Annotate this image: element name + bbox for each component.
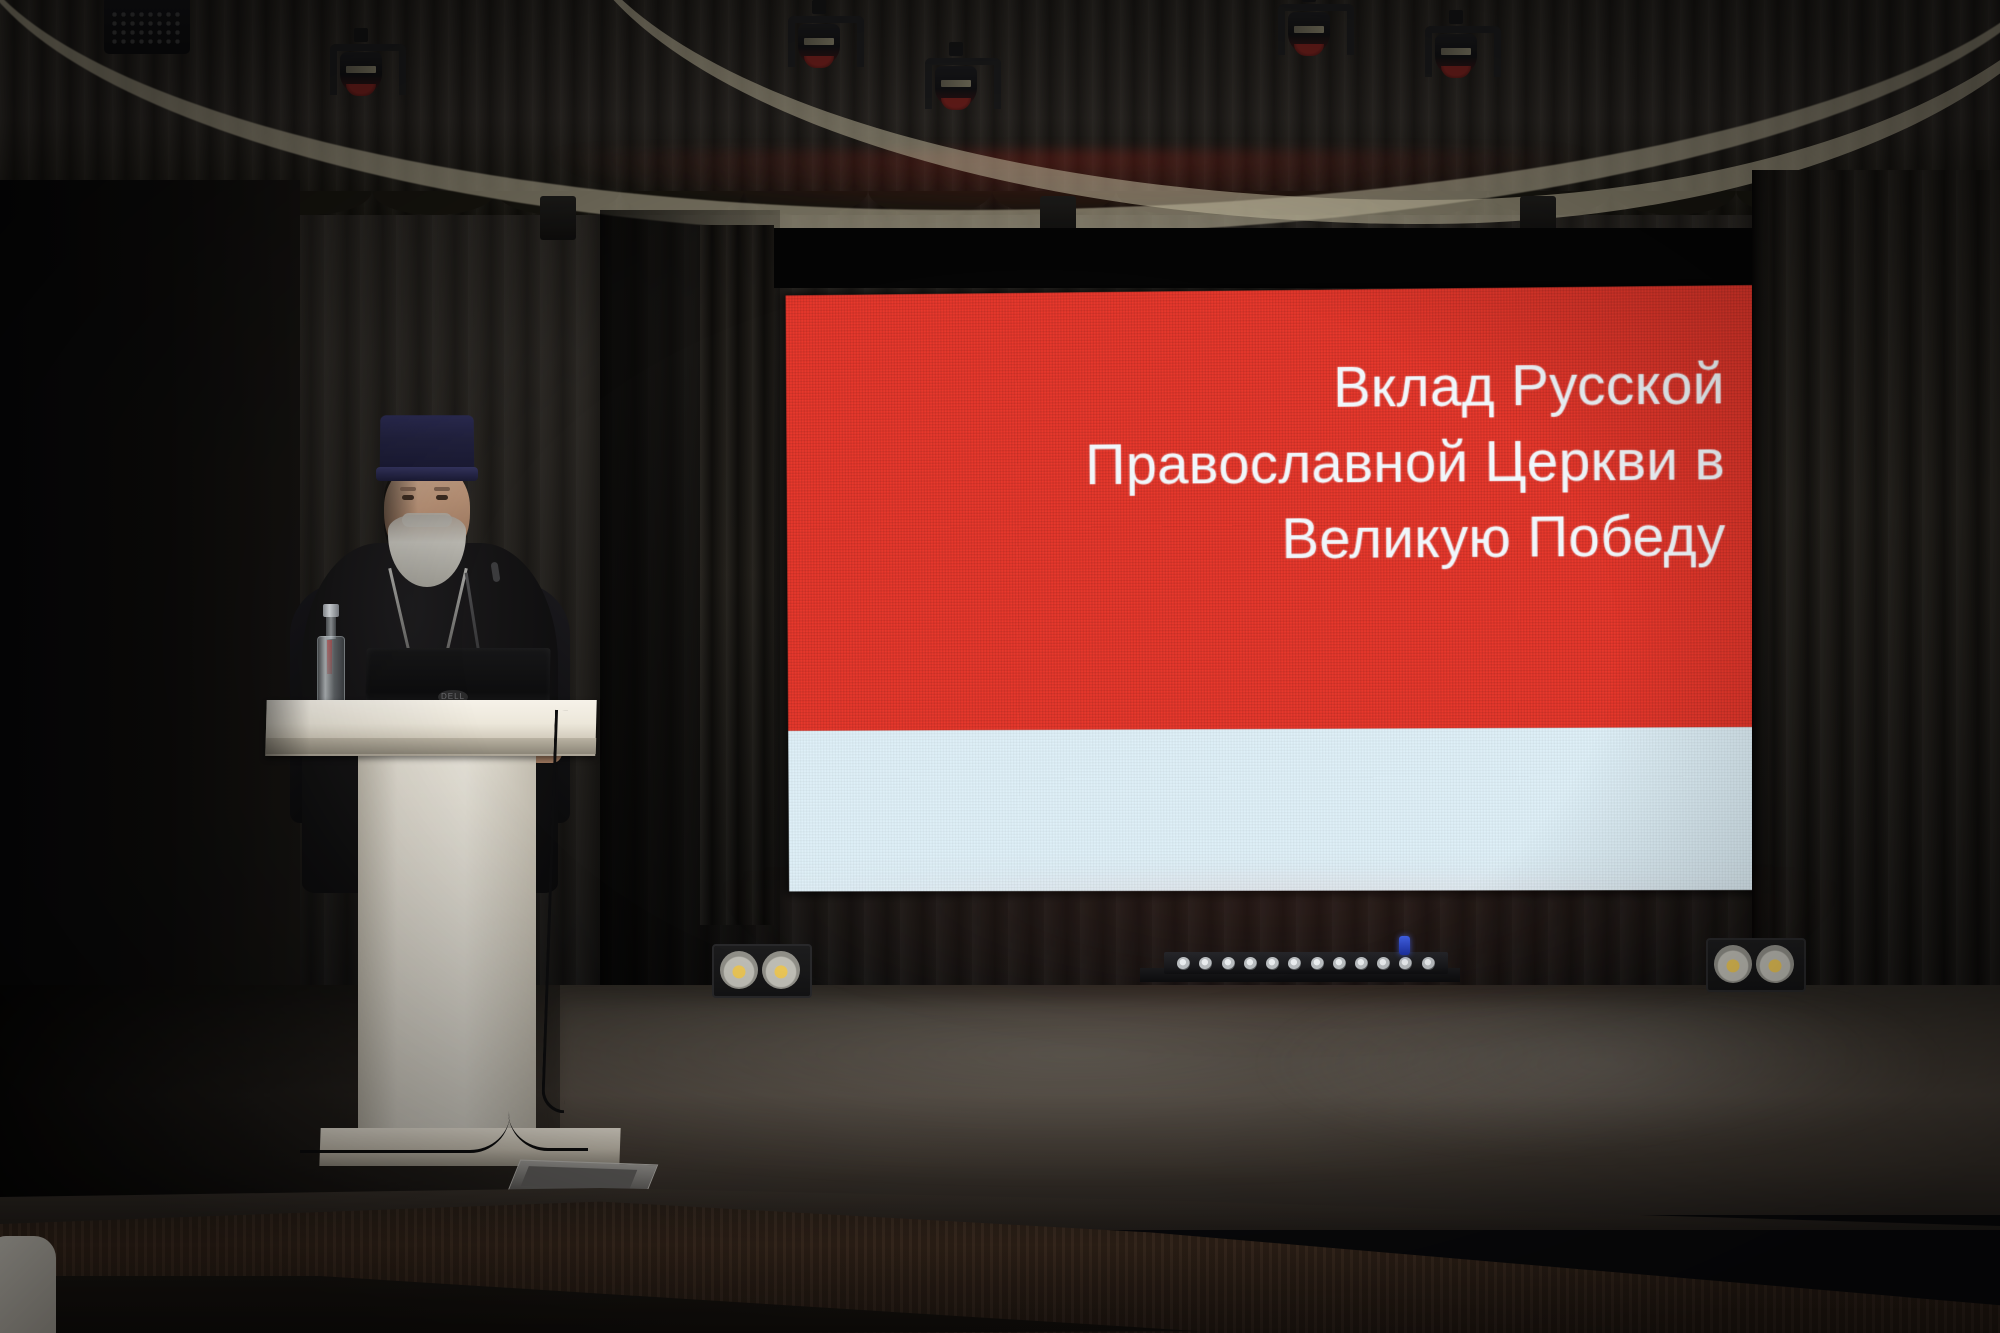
led-cell (1399, 957, 1412, 970)
rigging-clamp (1449, 10, 1463, 24)
eye-left (402, 495, 414, 500)
stage-blinder-left (712, 944, 812, 998)
blinder-lamp (720, 951, 758, 989)
eye-right (436, 495, 448, 500)
stage-blinder-right (1706, 938, 1806, 992)
light-badge (804, 38, 834, 45)
light-badge (346, 66, 376, 73)
led-cell (1377, 957, 1390, 970)
podium-column-shading (358, 752, 536, 1144)
led-wash-bar (1164, 952, 1448, 974)
led-cell (1222, 957, 1235, 970)
led-cell (1177, 957, 1190, 970)
floor-outlet-box-lid (521, 1166, 638, 1190)
slide-title: Вклад Русской Православной Церкви в Вели… (975, 347, 1726, 579)
chair-corner (0, 1236, 56, 1333)
kamilavka-brim (376, 467, 478, 481)
power-cable (300, 1090, 510, 1153)
led-cell (1333, 957, 1346, 970)
rigging-clamp (1302, 0, 1316, 2)
led-cell (1422, 957, 1435, 970)
led-screen: Вклад Русской Православной Церкви в Вели… (786, 285, 1762, 891)
light-badge (941, 80, 971, 87)
moving-head-light (330, 38, 392, 98)
screen-top-bezel (772, 228, 1760, 288)
slide-title-line-1: Вклад Русской (975, 347, 1725, 429)
water-bottle-label (327, 640, 332, 674)
stage-speaker (540, 196, 576, 240)
moving-head-light (1278, 0, 1340, 58)
ceiling-speaker (104, 0, 190, 54)
left-curtain-shadow (0, 180, 300, 1010)
blinder-lamp (1714, 945, 1752, 983)
moving-head-light (788, 10, 850, 70)
led-cell (1199, 957, 1212, 970)
eyebrow-right (434, 487, 450, 491)
moving-head-light (925, 52, 987, 112)
led-cell (1266, 957, 1279, 970)
eyebrow-left (400, 487, 416, 491)
stage-photograph: Вклад Русской Православной Церкви в Вели… (0, 0, 2000, 1333)
slide-title-line-3: Великую Победу (976, 499, 1726, 579)
led-cell (1244, 957, 1257, 970)
podium-desktop-shadow (265, 700, 310, 756)
rigging-clamp (949, 42, 963, 56)
rigging-clamp (354, 28, 368, 42)
led-bar-indicator (1399, 936, 1410, 955)
slide-white-band (788, 727, 1762, 891)
slide-title-line-2: Православной Церкви в (975, 423, 1725, 504)
blinder-lamp (1756, 945, 1794, 983)
light-badge (1441, 48, 1471, 55)
speaker-grille-icon (110, 10, 184, 46)
podium-desktop-edge (266, 738, 596, 754)
moving-head-light (1425, 20, 1487, 80)
rigging-clamp (812, 0, 826, 14)
light-badge (1294, 26, 1324, 33)
left-curtain-over-screen (700, 225, 774, 925)
led-cell (1288, 957, 1301, 970)
led-cell (1355, 957, 1368, 970)
blinder-lamp (762, 951, 800, 989)
water-bottle-cap (323, 604, 339, 617)
led-cell (1311, 957, 1324, 970)
